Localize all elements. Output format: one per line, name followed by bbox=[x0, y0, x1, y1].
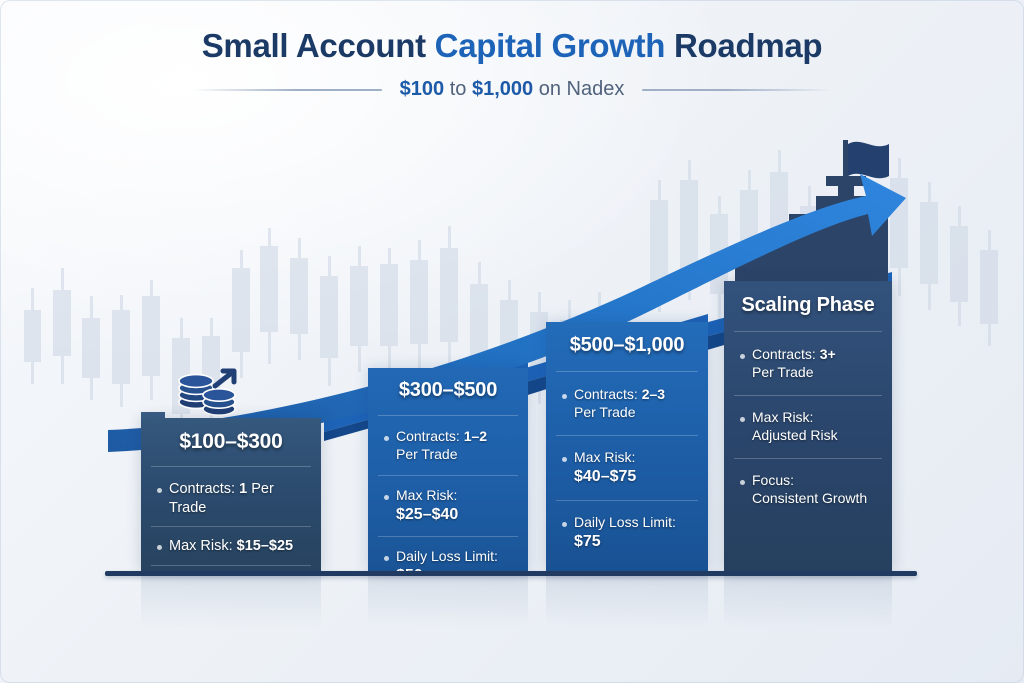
bullet-icon bbox=[740, 354, 745, 359]
stage-3-row-0-value: 2–3 bbox=[642, 386, 665, 402]
stage-3-row-2: Daily Loss Limit:$75 bbox=[562, 514, 692, 552]
stage-card-4[interactable]: Scaling Phase Contracts: 3+Per Trade Max… bbox=[724, 281, 892, 572]
stage-4-row-2-value: Consistent Growth bbox=[752, 490, 867, 506]
stage-4-row-2: Focus:Consistent Growth bbox=[740, 472, 876, 508]
stage-3-panel: $500–$1,000 Contracts: 2–3Per Trade Max … bbox=[546, 322, 708, 572]
stage-1-row-0: Contracts: 1 Per Trade bbox=[157, 480, 305, 517]
stage-1-panel: $100–$300 Contracts: 1 Per Trade Max Ris… bbox=[141, 418, 321, 572]
stage-2-divider-2 bbox=[378, 536, 518, 537]
stage-4-divider-1 bbox=[734, 395, 882, 396]
stage-3-title: $500–$1,000 bbox=[562, 334, 692, 357]
stage-2-row-2: Daily Loss Limit:$50 bbox=[384, 548, 512, 572]
stage-1-divider-1 bbox=[151, 526, 311, 527]
stage-card-2[interactable]: $300–$500 Contracts: 1–2Per Trade Max Ri… bbox=[368, 368, 528, 572]
stage-2-row-0-value: 1–2 bbox=[464, 428, 487, 444]
stage-3-row-0-label: Contracts: bbox=[574, 386, 642, 402]
stage-1-row-1: Max Risk: $15–$25 bbox=[157, 537, 305, 556]
stage-3-row-2-label: Daily Loss Limit: bbox=[574, 514, 676, 530]
stage-4-row-0: Contracts: 3+Per Trade bbox=[740, 346, 876, 382]
stage-4-panel: Scaling Phase Contracts: 3+Per Trade Max… bbox=[724, 281, 892, 572]
stage-2-title: $300–$500 bbox=[384, 379, 512, 402]
stage-2-row-1-label: Max Risk: bbox=[396, 487, 457, 503]
bullet-icon bbox=[384, 556, 389, 561]
stage-4-row-0-label: Contracts: bbox=[752, 346, 820, 362]
stage-4-divider-2 bbox=[734, 458, 882, 459]
stage-3-row-2-value: $75 bbox=[574, 533, 601, 550]
stage-card-3[interactable]: $500–$1,000 Contracts: 2–3Per Trade Max … bbox=[546, 322, 708, 572]
stage-4-row-1: Max Risk:Adjusted Risk bbox=[740, 409, 876, 445]
stage-2-divider-1 bbox=[378, 475, 518, 476]
stage-1-row-0-value: 1 bbox=[239, 481, 247, 497]
stage-1-row-1-label: Max Risk: bbox=[169, 538, 237, 554]
roadmap-stage: $100–$300 Contracts: 1 Per Trade Max Ris… bbox=[0, 0, 1024, 683]
stage-3-row-1-label: Max Risk: bbox=[574, 449, 635, 465]
bullet-icon bbox=[562, 457, 567, 462]
stage-1-row-1-value: $15–$25 bbox=[237, 538, 293, 554]
stage-4-row-1-label: Max Risk: bbox=[752, 409, 813, 425]
stage-1-divider-2 bbox=[151, 565, 311, 566]
stage-4-row-0-suffix: Per Trade bbox=[752, 364, 813, 380]
stage-4-row-2-label: Focus: bbox=[752, 472, 794, 488]
baseline-axis bbox=[105, 571, 917, 576]
bullet-icon bbox=[157, 545, 162, 550]
stage-3-divider-2 bbox=[556, 500, 698, 501]
stage-card-1[interactable]: $100–$300 Contracts: 1 Per Trade Max Ris… bbox=[141, 418, 321, 572]
stage-2-row-0-label: Contracts: bbox=[396, 428, 464, 444]
stage-2-row-1: Max Risk:$25–$40 bbox=[384, 487, 512, 525]
stage-4-row-1-value: Adjusted Risk bbox=[752, 427, 838, 443]
bullet-icon bbox=[157, 488, 162, 493]
stage-4-divider-0 bbox=[734, 331, 882, 332]
stage-3-row-0-suffix: Per Trade bbox=[574, 404, 635, 420]
bullet-icon bbox=[384, 436, 389, 441]
stage-1-row-0-label: Contracts: bbox=[169, 481, 239, 497]
stage-2-row-2-label: Daily Loss Limit: bbox=[396, 548, 498, 564]
stage-2-row-0-suffix: Per Trade bbox=[396, 446, 457, 462]
bullet-icon bbox=[740, 417, 745, 422]
bullet-icon bbox=[562, 394, 567, 399]
stage-2-panel: $300–$500 Contracts: 1–2Per Trade Max Ri… bbox=[368, 368, 528, 572]
bullet-icon bbox=[562, 522, 567, 527]
stage-3-row-0: Contracts: 2–3Per Trade bbox=[562, 386, 692, 422]
stage-3-divider-1 bbox=[556, 435, 698, 436]
stage-3-row-1-value: $40–$75 bbox=[574, 468, 636, 485]
stage-4-title: Scaling Phase bbox=[740, 294, 876, 317]
stage-1-divider-0 bbox=[151, 466, 311, 467]
stage-2-row-0: Contracts: 1–2Per Trade bbox=[384, 428, 512, 464]
bullet-icon bbox=[740, 480, 745, 485]
stage-2-row-1-value: $25–$40 bbox=[396, 506, 458, 523]
stage-1-title: $100–$300 bbox=[157, 430, 305, 454]
stage-3-row-1: Max Risk:$40–$75 bbox=[562, 449, 692, 487]
bullet-icon bbox=[384, 495, 389, 500]
stage-2-divider-0 bbox=[378, 415, 518, 416]
stage-3-divider-0 bbox=[556, 371, 698, 372]
coin-stack-growth-icon bbox=[176, 368, 242, 420]
stage-4-row-0-value: 3+ bbox=[820, 346, 836, 362]
